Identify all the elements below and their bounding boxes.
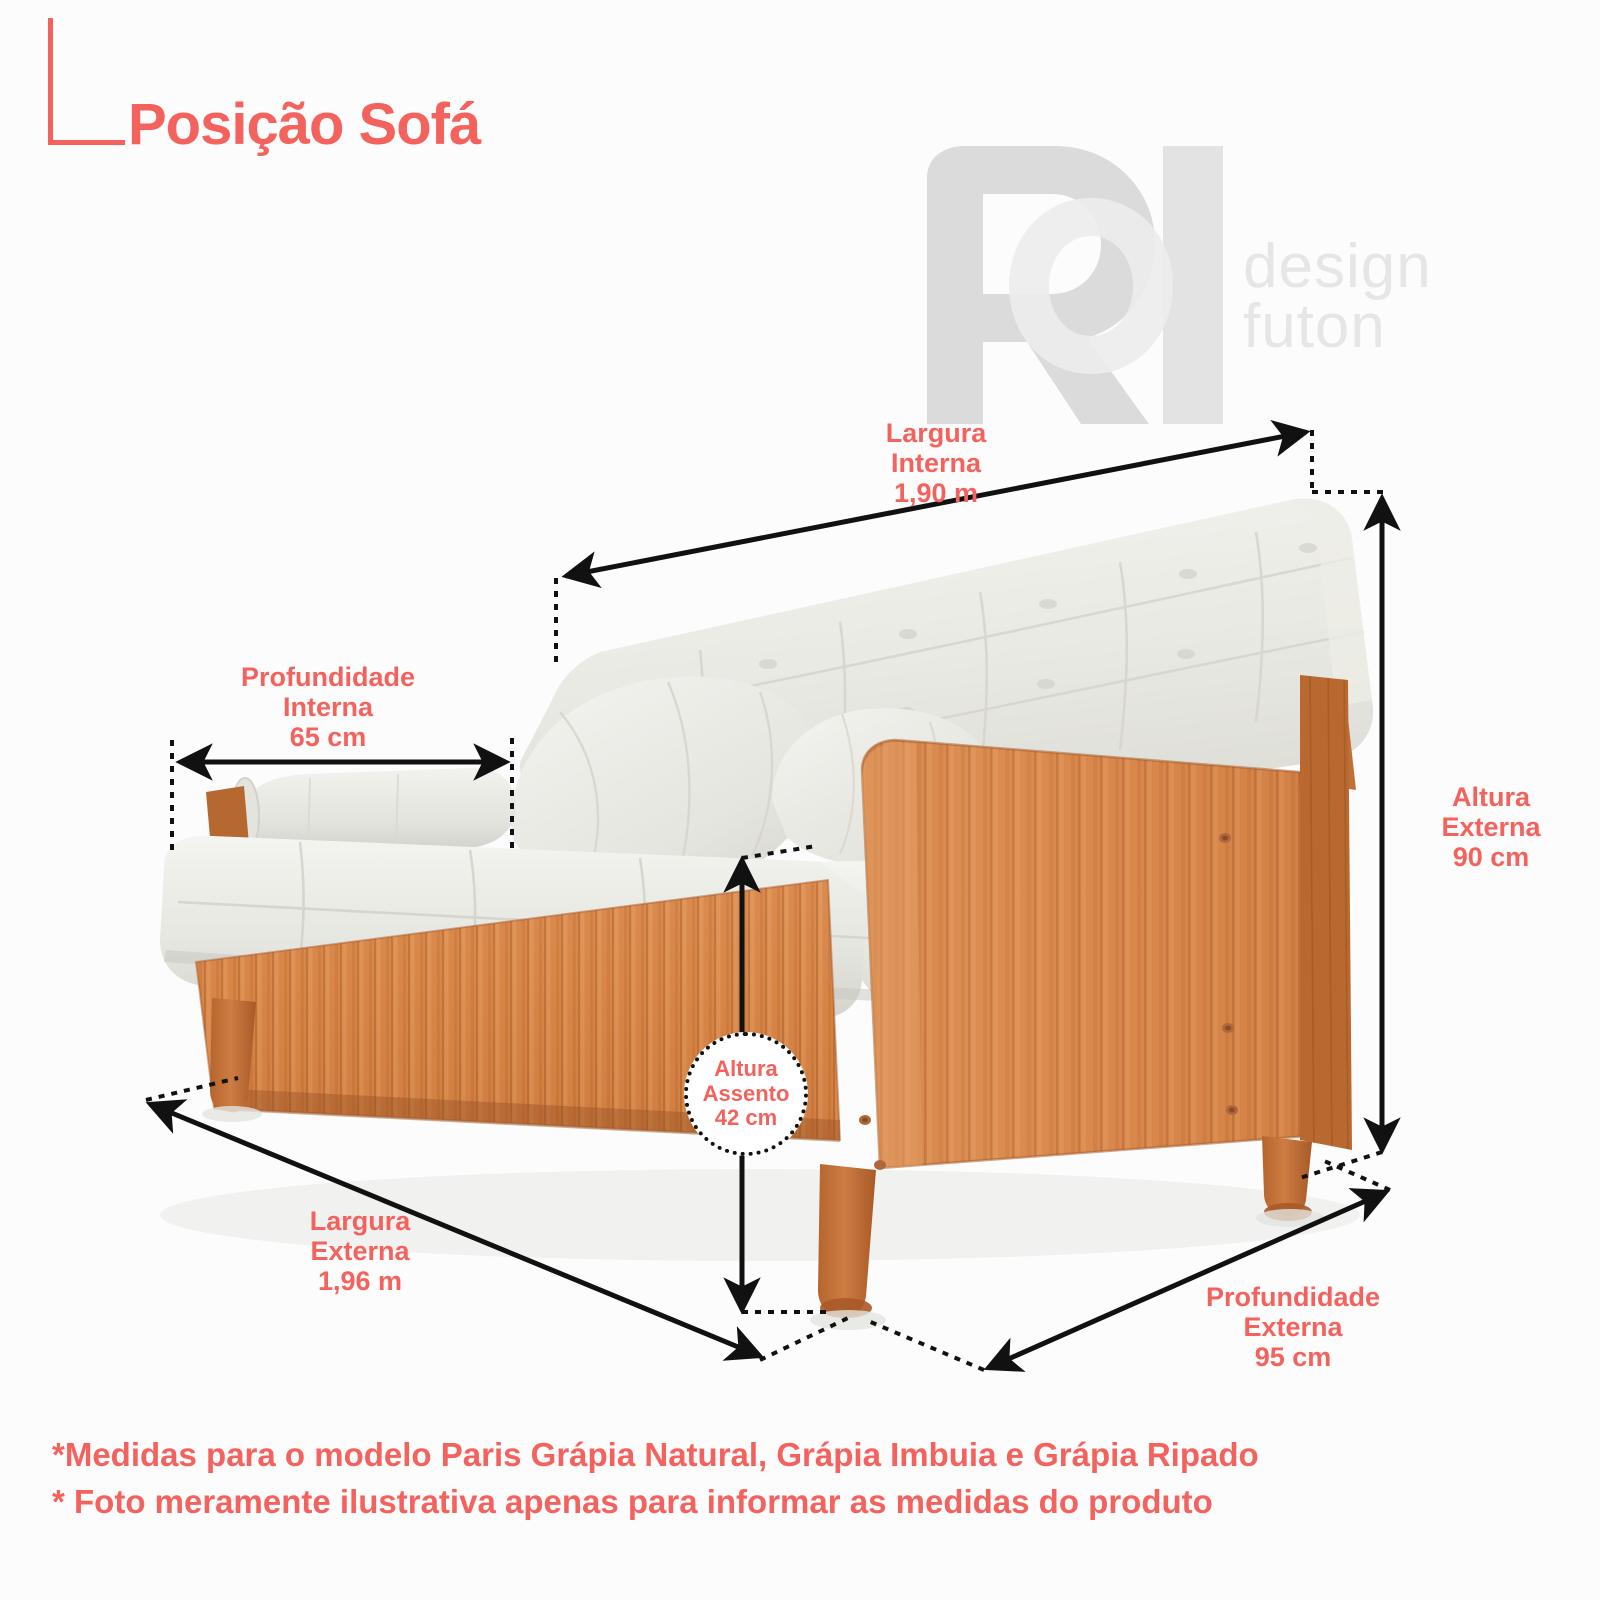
dimension-label-largura-interna: Largura Interna 1,90 m xyxy=(836,418,1036,509)
dimension-badge-altura-assento: Altura Assento 42 cm xyxy=(684,1032,808,1156)
label-line-2: Externa xyxy=(1178,1312,1408,1342)
dimension-label-altura-externa: Altura Externa 90 cm xyxy=(1396,782,1586,873)
dimension-label-profundidade-interna: Profundidade Interna 65 cm xyxy=(218,662,438,753)
dimension-label-profundidade-externa: Profundidade Externa 95 cm xyxy=(1178,1282,1408,1373)
label-line-2: Interna xyxy=(218,692,438,722)
label-value: 90 cm xyxy=(1396,842,1586,872)
label-value: 65 cm xyxy=(218,722,438,752)
label-value: 95 cm xyxy=(1178,1342,1408,1372)
label-line-1: Profundidade xyxy=(218,662,438,692)
dimension-label-largura-externa: Largura Externa 1,96 m xyxy=(260,1206,460,1297)
label-value: 1,96 m xyxy=(260,1266,460,1296)
dimension-infographic: Posição Sofá design futon xyxy=(0,0,1600,1600)
label-line-2: Externa xyxy=(260,1236,460,1266)
label-line-1: Largura xyxy=(836,418,1036,448)
label-line-1: Altura xyxy=(1396,782,1586,812)
label-value: 42 cm xyxy=(703,1106,790,1131)
label-line-1: Profundidade xyxy=(1178,1282,1408,1312)
label-line-2: Assento xyxy=(703,1082,790,1107)
label-value: 1,90 m xyxy=(836,478,1036,508)
label-line-1: Largura xyxy=(260,1206,460,1236)
label-line-2: Externa xyxy=(1396,812,1586,842)
label-line-2: Interna xyxy=(836,448,1036,478)
label-line-1: Altura xyxy=(703,1057,790,1082)
